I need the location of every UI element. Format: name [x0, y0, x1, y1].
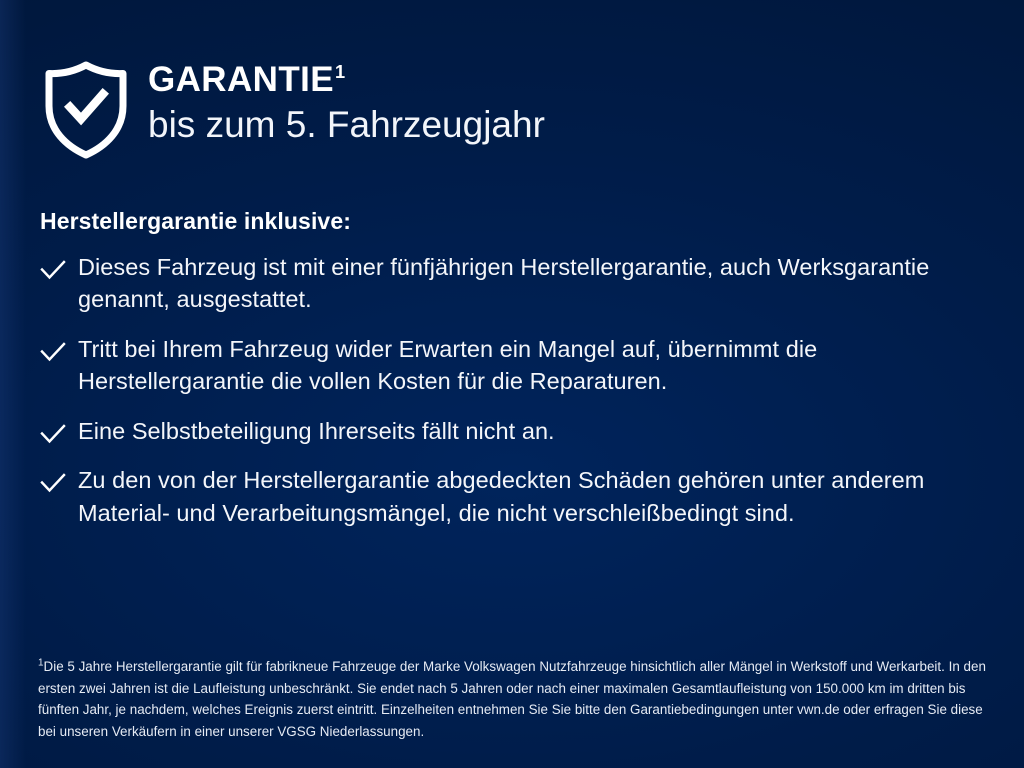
page-subtitle: bis zum 5. Fahrzeugjahr: [148, 103, 545, 147]
list-item: Eine Selbstbeteiligung Ihrerseits fällt …: [40, 415, 980, 447]
page-title-footnote-marker: 1: [335, 62, 346, 82]
check-icon: [40, 464, 78, 493]
list-item-label: Zu den von der Herstellergarantie abgede…: [78, 464, 958, 529]
header-text: GARANTIE1 bis zum 5. Fahrzeugjahr: [136, 56, 545, 146]
footnote: 1Die 5 Jahre Herstellergarantie gilt für…: [38, 656, 990, 743]
section-heading: Herstellergarantie inklusive:: [40, 208, 980, 235]
list-item: Dieses Fahrzeug ist mit einer fünfjährig…: [40, 251, 980, 316]
shield-check-icon: [40, 56, 136, 160]
check-icon: [40, 333, 78, 362]
page-title: GARANTIE1: [148, 62, 545, 99]
check-icon: [40, 415, 78, 444]
footnote-text: Die 5 Jahre Herstellergarantie gilt für …: [38, 659, 986, 739]
page-title-text: GARANTIE: [148, 60, 334, 99]
check-icon: [40, 251, 78, 280]
benefit-list: Dieses Fahrzeug ist mit einer fünfjährig…: [40, 251, 980, 529]
list-item: Zu den von der Herstellergarantie abgede…: [40, 464, 980, 529]
list-item-label: Dieses Fahrzeug ist mit einer fünfjährig…: [78, 251, 958, 316]
list-item: Tritt bei Ihrem Fahrzeug wider Erwarten …: [40, 333, 980, 398]
list-item-label: Tritt bei Ihrem Fahrzeug wider Erwarten …: [78, 333, 958, 398]
list-item-label: Eine Selbstbeteiligung Ihrerseits fällt …: [78, 415, 555, 447]
header: GARANTIE1 bis zum 5. Fahrzeugjahr: [40, 56, 545, 160]
content-block: Herstellergarantie inklusive: Dieses Fah…: [40, 208, 980, 529]
garantie-slide: GARANTIE1 bis zum 5. Fahrzeugjahr Herste…: [0, 0, 1024, 768]
